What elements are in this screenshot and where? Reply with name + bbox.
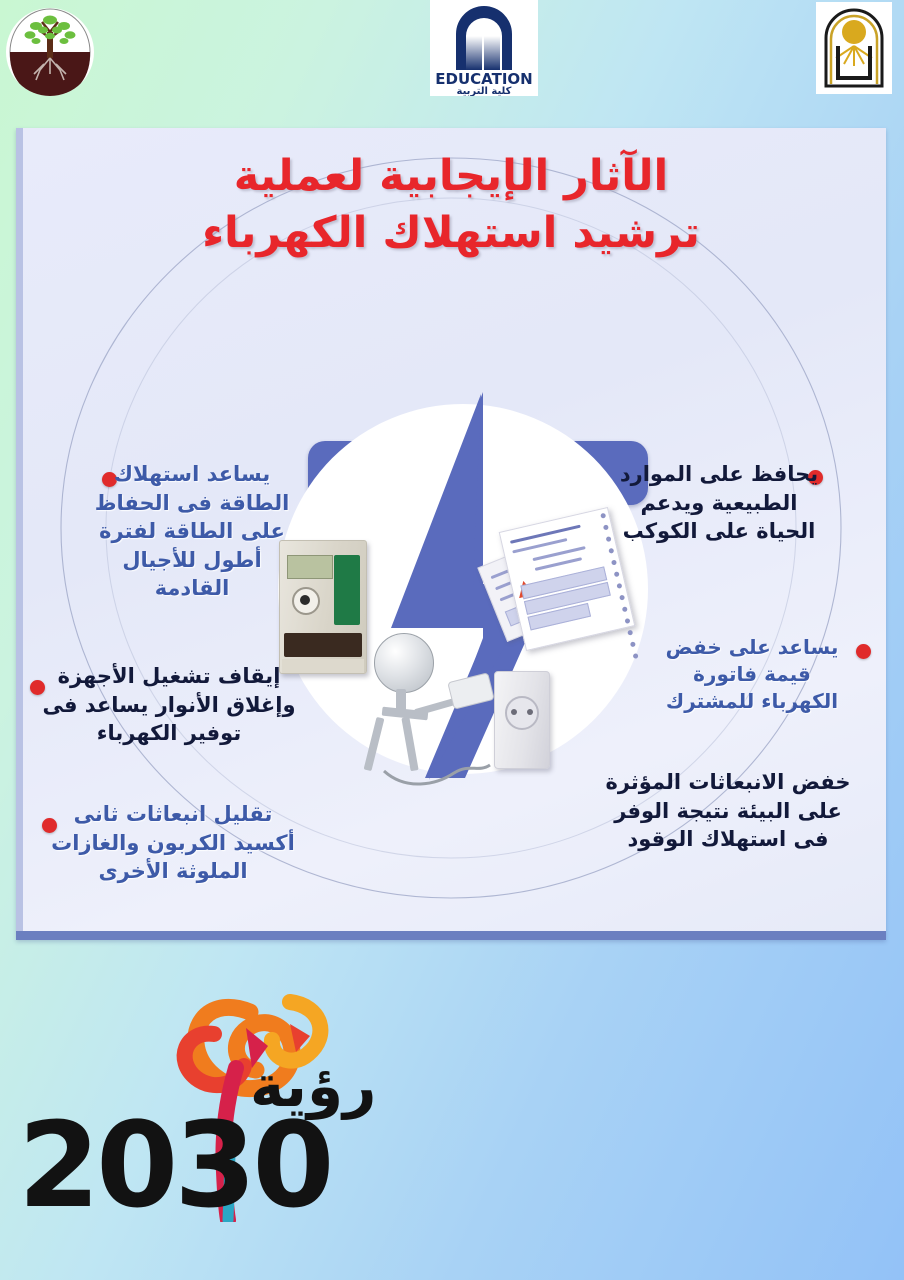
- page-title: الآثار الإيجابية لعملية ترشيد استهلاك ال…: [16, 148, 886, 262]
- benefit-left-2: إيقاف تشغيل الأجهزة وإغلاق الأنوار يساعد…: [38, 662, 300, 748]
- page-title-line2: ترشيد استهلاك الكهرباء: [16, 205, 886, 262]
- meter-terminal-block: [284, 633, 362, 657]
- wall-socket-icon: [494, 671, 550, 769]
- benefit-left-3: تقليل انبعاثات ثانى أكسيد الكربون والغاز…: [42, 800, 304, 886]
- assiut-university-logo: [816, 2, 892, 94]
- education-arch-icon: EDUCATION كلية التربية: [430, 0, 538, 96]
- plug-icon: [447, 672, 495, 709]
- benefit-right-2: يساعد على خفض قيمة فاتورة الكهرباء للمشت…: [656, 634, 848, 716]
- assiut-university-icon: [816, 2, 892, 94]
- meter-display: [287, 555, 333, 579]
- page-title-line1: الآثار الإيجابية لعملية: [234, 151, 669, 201]
- tree-roots-icon: [6, 8, 94, 96]
- benefit-right-3: خفض الانبعاثات المؤثرة على البيئة نتيجة …: [604, 768, 852, 854]
- benefit-left-1: يساعد استهلاك الطاقة فى الحفاظ على الطاق…: [92, 460, 292, 603]
- header-logo-strip: EDUCATION كلية التربية: [0, 0, 904, 128]
- education-logo-text-ar: كلية التربية: [457, 86, 512, 96]
- light-bulb-head: [374, 633, 434, 693]
- center-illustration: [261, 388, 661, 798]
- benefit-right-1: يحافظ على الموارد الطبيعية ويدعم الحياة …: [616, 460, 822, 546]
- poster-card: الآثار الإيجابية لعملية ترشيد استهلاك ال…: [16, 128, 886, 940]
- meter-dial: [292, 587, 320, 615]
- bullet-dot-right-2: [856, 644, 871, 659]
- vision-year-text: 2030: [18, 1106, 418, 1224]
- vision-2030-logo: رؤية 2030: [0, 944, 904, 1280]
- electricity-meter-icon: [279, 540, 367, 674]
- meter-circuit-board: [334, 555, 360, 625]
- tree-roots-logo: [6, 8, 94, 96]
- socket-hole: [505, 696, 539, 730]
- light-bulb-robot-icon: [366, 633, 566, 793]
- faculty-of-education-logo: EDUCATION كلية التربية: [430, 0, 538, 96]
